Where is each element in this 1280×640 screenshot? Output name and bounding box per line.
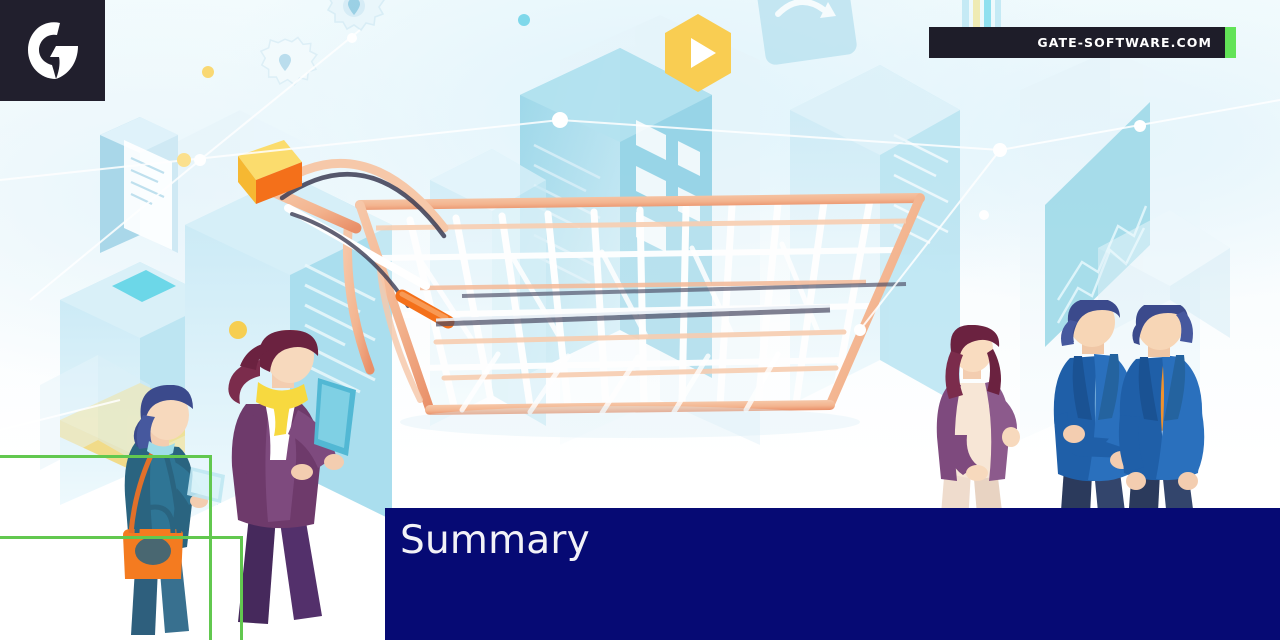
presentation-slide: GATE-SOFTWARE.COM Summary xyxy=(0,0,1280,640)
gate-logo-g-icon xyxy=(26,21,82,81)
page-title: Summary xyxy=(400,521,590,560)
url-badge-accent-bar xyxy=(1225,27,1236,58)
url-badge[interactable]: GATE-SOFTWARE.COM xyxy=(929,27,1236,58)
url-badge-body: GATE-SOFTWARE.COM xyxy=(929,27,1225,58)
url-badge-text: GATE-SOFTWARE.COM xyxy=(1037,35,1212,50)
brand-logo[interactable] xyxy=(0,0,105,101)
selection-box-secondary[interactable] xyxy=(0,536,243,640)
